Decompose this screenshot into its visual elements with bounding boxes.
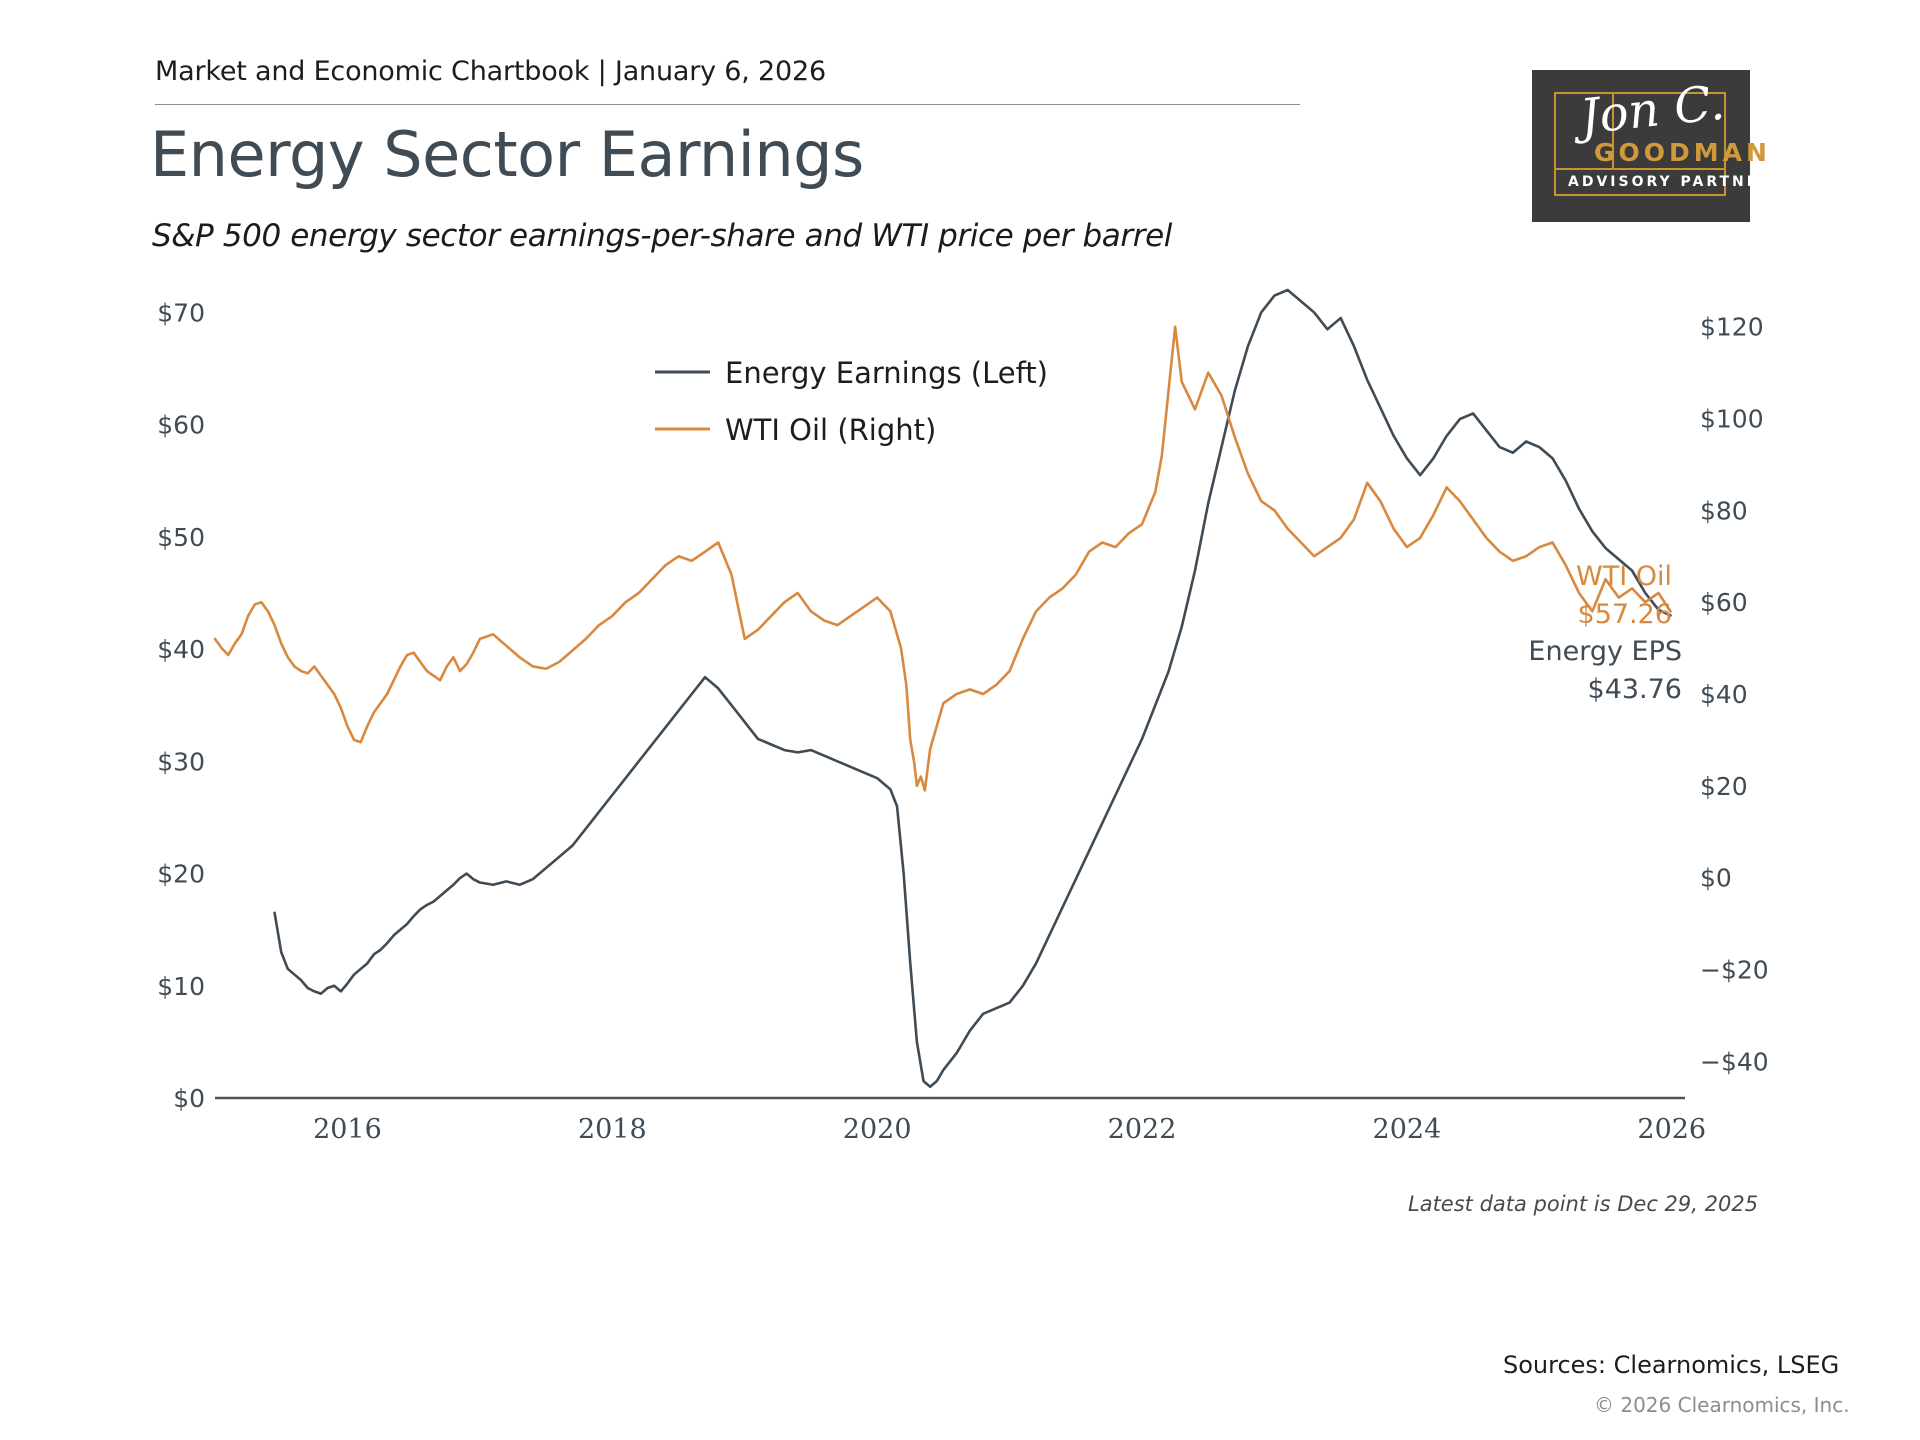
right-axis-tick-labels: −$40−$20$0$20$40$60$80$100$120 bbox=[1700, 313, 1769, 1077]
x-axis-tick: 2020 bbox=[843, 1114, 912, 1145]
right-axis-tick: $40 bbox=[1700, 680, 1748, 709]
right-axis-tick: $20 bbox=[1700, 772, 1748, 801]
x-axis-tick-labels: 201620182020202220242026 bbox=[313, 1114, 1706, 1145]
copyright-note: © 2026 Clearnomics, Inc. bbox=[1594, 1393, 1850, 1417]
left-axis-tick: $30 bbox=[157, 747, 205, 776]
series-line-energy-eps bbox=[275, 290, 1671, 1087]
right-axis-tick: $120 bbox=[1700, 313, 1764, 342]
left-axis-tick-labels: $0$10$20$30$40$50$60$70 bbox=[157, 298, 205, 1113]
right-axis-tick: $0 bbox=[1700, 864, 1732, 893]
series-lines bbox=[215, 290, 1670, 1087]
annotation-value-wti-oil: $57.26 bbox=[1578, 599, 1672, 630]
x-axis-tick: 2018 bbox=[578, 1114, 647, 1145]
x-axis-tick: 2022 bbox=[1108, 1114, 1177, 1145]
chart-legend: Energy Earnings (Left)WTI Oil (Right) bbox=[655, 356, 1048, 447]
right-axis-tick: −$40 bbox=[1700, 1047, 1769, 1076]
chart-container: $0$10$20$30$40$50$60$70 −$40−$20$0$20$40… bbox=[0, 0, 1920, 1440]
left-axis-tick: $20 bbox=[157, 860, 205, 889]
left-axis-tick: $70 bbox=[157, 298, 205, 327]
x-axis-tick: 2026 bbox=[1637, 1114, 1706, 1145]
sources-note: Sources: Clearnomics, LSEG bbox=[1503, 1351, 1839, 1379]
right-axis-tick: $80 bbox=[1700, 496, 1748, 525]
annotation-value-energy-eps: $43.76 bbox=[1588, 674, 1682, 705]
latest-data-point-note: Latest data point is Dec 29, 2025 bbox=[1408, 1192, 1758, 1216]
annotation-label-energy-eps: Energy EPS bbox=[1528, 636, 1682, 667]
left-axis-tick: $40 bbox=[157, 635, 205, 664]
energy-sector-earnings-chart: $0$10$20$30$40$50$60$70 −$40−$20$0$20$40… bbox=[0, 0, 1920, 1440]
left-axis-tick: $60 bbox=[157, 411, 205, 440]
left-axis-tick: $0 bbox=[173, 1084, 205, 1113]
right-axis-tick: $60 bbox=[1700, 588, 1748, 617]
right-axis-tick: −$20 bbox=[1700, 955, 1769, 984]
right-axis-tick: $100 bbox=[1700, 405, 1764, 434]
annotation-label-wti-oil: WTI Oil bbox=[1576, 561, 1672, 592]
x-axis-tick: 2024 bbox=[1373, 1114, 1442, 1145]
series-end-annotations: WTI Oil$57.26Energy EPS$43.76 bbox=[1528, 561, 1682, 705]
left-axis-tick: $10 bbox=[157, 972, 205, 1001]
left-axis-tick: $50 bbox=[157, 523, 205, 552]
legend-label: WTI Oil (Right) bbox=[725, 413, 936, 447]
x-axis-tick: 2016 bbox=[313, 1114, 382, 1145]
series-line-wti-oil bbox=[215, 327, 1670, 791]
legend-label: Energy Earnings (Left) bbox=[725, 356, 1048, 390]
